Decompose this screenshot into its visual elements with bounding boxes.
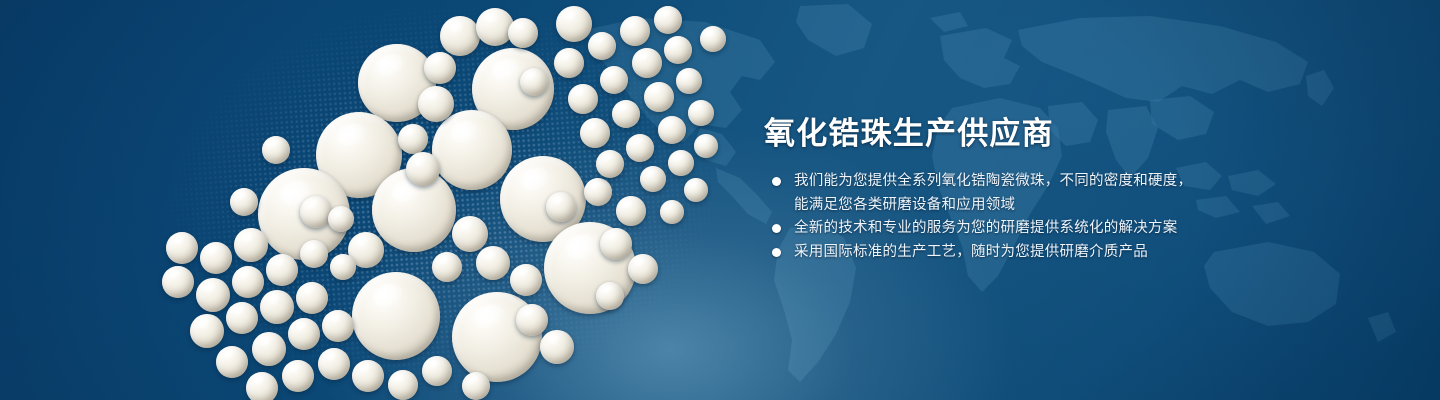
bead sm: [644, 82, 674, 112]
bead sm: [616, 196, 646, 226]
list-item-line: 全新的技术和专业的服务为您的研磨提供系统化的解决方案: [794, 217, 1236, 241]
bead sm: [322, 310, 354, 342]
bead sm: [664, 36, 692, 64]
bead sm: [232, 266, 264, 298]
bead sm: [262, 136, 290, 164]
bead sm: [260, 290, 294, 324]
bead sm: [422, 356, 452, 386]
bead: [440, 16, 480, 56]
bead sm: [300, 240, 328, 268]
bead sm: [612, 100, 640, 128]
bead sm: [226, 302, 258, 334]
bead sm: [328, 206, 354, 232]
bead: [596, 282, 624, 310]
bead sm: [688, 100, 714, 126]
bullet-dot-icon: [772, 224, 781, 233]
bead: [584, 178, 612, 206]
bead sm: [200, 242, 232, 274]
bead sm: [230, 188, 258, 216]
zirconia-beads-image: [0, 0, 780, 400]
bead sm: [596, 150, 624, 178]
bead sm: [330, 254, 356, 280]
bead: [508, 18, 538, 48]
bead sm: [580, 118, 610, 148]
bead sm: [462, 372, 490, 400]
bead sm: [620, 16, 650, 46]
bead sm: [694, 134, 718, 158]
bead sm: [162, 266, 194, 298]
hero-banner: 氧化锆珠生产供应商 我们能为您提供全系列氧化锆陶瓷微珠，不同的密度和硬度， 能满…: [0, 0, 1440, 400]
bead sm: [166, 232, 198, 264]
bead sm: [234, 228, 268, 262]
bead sm: [658, 116, 686, 144]
bead: [406, 152, 440, 186]
bead sm: [640, 166, 666, 192]
banner-text-block: 氧化锆珠生产供应商 我们能为您提供全系列氧化锆陶瓷微珠，不同的密度和硬度， 能满…: [760, 0, 1280, 400]
bead sm: [398, 124, 428, 154]
page-title: 氧化锆珠生产供应商: [764, 108, 1054, 153]
bead sm: [554, 48, 584, 78]
list-item-line: 能满足您各类研磨设备和应用领域: [794, 194, 1236, 218]
bead: [556, 6, 592, 42]
bead sm: [300, 196, 332, 228]
bead sm: [654, 6, 682, 34]
bead sm: [516, 304, 548, 336]
list-item: 我们能为您提供全系列氧化锆陶瓷微珠，不同的密度和硬度， 能满足您各类研磨设备和应…: [766, 170, 1236, 217]
bead: [432, 252, 462, 282]
bead sm: [190, 314, 224, 348]
bead sm: [266, 254, 298, 286]
bullet-dot-icon: [772, 248, 781, 257]
list-item-line: 我们能为您提供全系列氧化锆陶瓷微珠，不同的密度和硬度，: [794, 170, 1236, 194]
bead sm: [568, 84, 598, 114]
bead sm: [318, 348, 350, 380]
bead sm: [628, 254, 658, 284]
bead sm: [246, 372, 278, 400]
bead sm: [660, 200, 684, 224]
bead sm: [216, 346, 248, 378]
bead sm: [282, 360, 314, 392]
bead sm: [510, 264, 542, 296]
bead sm: [600, 66, 628, 94]
bead: [600, 228, 632, 260]
bead sm: [588, 32, 616, 60]
bead sm: [632, 48, 662, 78]
bead: [476, 246, 510, 280]
bead sm: [520, 68, 548, 96]
bead sm: [352, 360, 384, 392]
bead sm: [452, 216, 488, 252]
list-item-line: 采用国际标准的生产工艺，随时为您提供研磨介质产品: [794, 241, 1236, 265]
bead: [540, 330, 574, 364]
bead sm: [684, 178, 708, 202]
feature-list: 我们能为您提供全系列氧化锆陶瓷微珠，不同的密度和硬度， 能满足您各类研磨设备和应…: [766, 170, 1236, 264]
bead sm: [626, 134, 654, 162]
bead sm: [668, 150, 694, 176]
bead sm: [388, 370, 418, 400]
bead sm: [546, 192, 576, 222]
bead: [432, 110, 512, 190]
list-item: 采用国际标准的生产工艺，随时为您提供研磨介质产品: [766, 241, 1236, 265]
bead sm: [196, 278, 230, 312]
bead sm: [296, 282, 328, 314]
bead: [424, 52, 456, 84]
bead sm: [676, 68, 702, 94]
bullet-dot-icon: [772, 177, 781, 186]
list-item: 全新的技术和专业的服务为您的研磨提供系统化的解决方案: [766, 217, 1236, 241]
bead sm: [252, 332, 286, 366]
bead sm: [288, 318, 320, 350]
bead sm: [700, 26, 726, 52]
bead: [418, 86, 454, 122]
bead: [352, 272, 440, 360]
